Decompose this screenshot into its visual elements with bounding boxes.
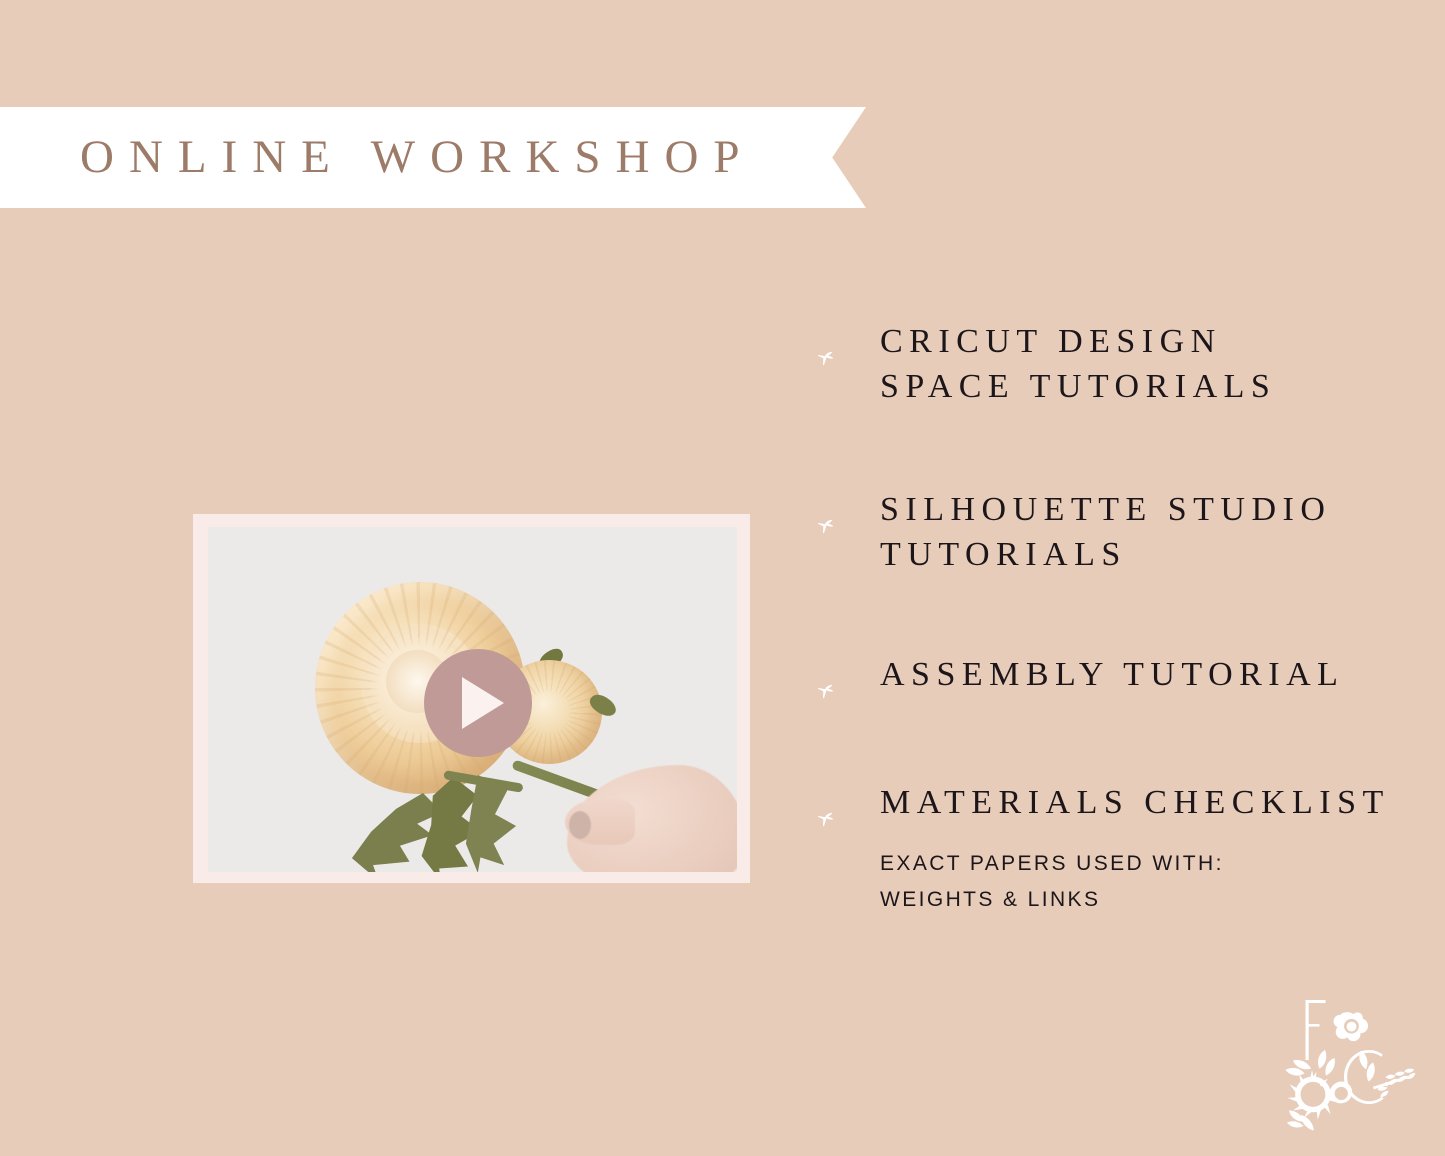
feature-item-silhouette-studio: SILHOUETTE STUDIO TUTORIALS [812, 488, 1331, 578]
page-title: ONLINE WORKSHOP [80, 134, 755, 181]
play-button[interactable] [424, 649, 532, 757]
sprig-leaf-icon [812, 807, 838, 833]
play-triangle-icon [462, 677, 504, 729]
floral-monogram-logo [1261, 998, 1421, 1140]
sprig-leaf-icon [812, 346, 838, 372]
feature-label: MATERIALS CHECKLIST [880, 781, 1390, 826]
video-thumbnail-image [208, 527, 737, 872]
feature-label: ASSEMBLY TUTORIAL [880, 653, 1344, 698]
sprig-leaf-icon [812, 679, 838, 705]
feature-label: SILHOUETTE STUDIO TUTORIALS [880, 488, 1331, 578]
leaf-cluster-icon [348, 775, 558, 872]
sprig-leaf-icon [812, 514, 838, 540]
banner-ribbon: ONLINE WORKSHOP [0, 107, 866, 208]
video-thumbnail-frame[interactable] [193, 514, 750, 883]
feature-sublabel: EXACT PAPERS USED WITH: WEIGHTS & LINKS [880, 846, 1390, 918]
fingernail-icon [569, 811, 591, 839]
poster-canvas: ONLINE WORKSHOP [0, 0, 1445, 1156]
feature-item-cricut-design-space: CRICUT DESIGN SPACE TUTORIALS [812, 320, 1276, 410]
feature-item-materials-checklist: MATERIALS CHECKLIST EXACT PAPERS USED WI… [812, 781, 1390, 918]
hand-icon [567, 765, 737, 872]
feature-label: CRICUT DESIGN SPACE TUTORIALS [880, 320, 1276, 410]
feature-item-assembly-tutorial: ASSEMBLY TUTORIAL [812, 653, 1344, 705]
